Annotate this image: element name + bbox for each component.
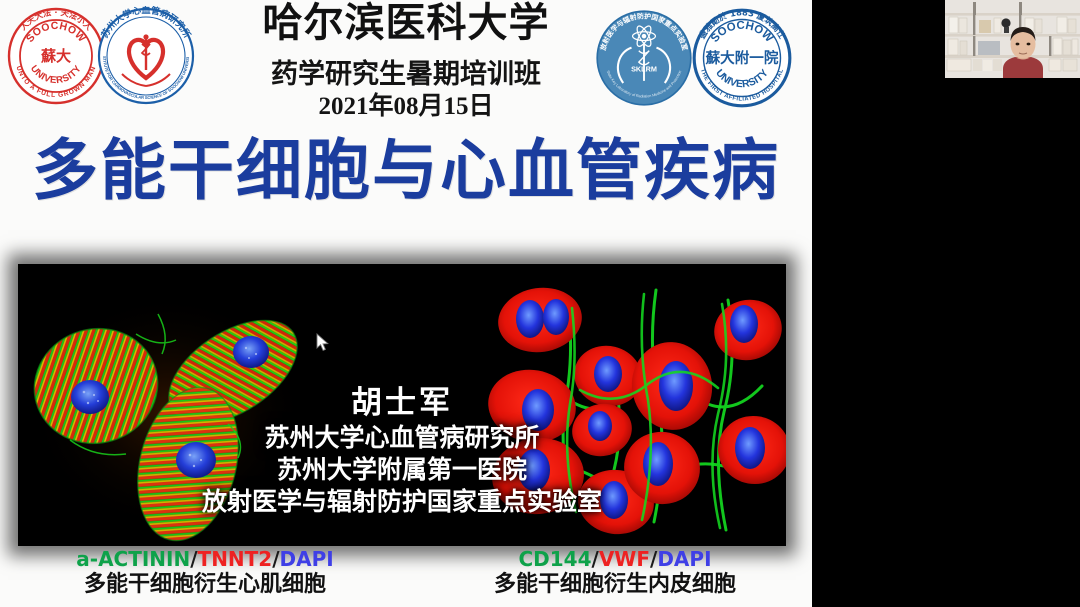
screen: 人天大法 · 天法小人 UNTO A FULL GROWN MAN SOOCHO…	[0, 0, 1080, 607]
left-caption-text: 多能干细胞衍生心肌细胞	[10, 572, 400, 598]
cardiomyocyte-image	[18, 264, 328, 546]
right-marker-list: CD144/VWF/DAPI	[430, 548, 800, 570]
sklrm-seal-logo: 放射医学与辐射防护国家重点实验室 State Key Laboratory of…	[592, 6, 696, 110]
cardiovascular-institute-seal-logo: 苏州大学心血管病研究所 INSTITUTE FOR CARDIOVASCULAR…	[96, 6, 196, 106]
microscopy-image-panel	[18, 264, 786, 546]
endothelial-cell-image	[476, 264, 786, 546]
svg-text:蘇大: 蘇大	[40, 47, 71, 65]
presentation-date: 2021年08月15日	[206, 86, 606, 122]
presentation-slide: 人天大法 · 天法小人 UNTO A FULL GROWN MAN SOOCHO…	[0, 0, 812, 607]
left-marker-list: a-ACTININ/TNNT2/DAPI	[10, 548, 400, 570]
university-title: 哈尔滨医科大学	[206, 2, 606, 45]
marker-label-cd144: CD144	[518, 547, 591, 571]
svg-text:蘇大附一院: 蘇大附一院	[705, 49, 779, 67]
marker-label-vwf: VWF	[599, 547, 650, 571]
right-caption-text: 多能干细胞衍生内皮细胞	[430, 572, 800, 598]
first-affiliated-hospital-seal-logo: 盛雅勛於 1883 厦筑高仕 THE FIRST AFFILIATED HOSP…	[690, 6, 794, 110]
marker-label-a-actinin: a-ACTININ	[76, 547, 190, 571]
svg-text:SKLRM: SKLRM	[631, 65, 657, 74]
marker-separator: /	[592, 547, 599, 571]
slide-main-title: 多能干细胞与心血管疾病	[0, 138, 812, 204]
marker-label-dapi: DAPI	[280, 547, 334, 571]
soochow-university-seal-logo: 人天大法 · 天法小人 UNTO A FULL GROWN MAN SOOCHO…	[6, 6, 106, 106]
presenter-video-thumbnail[interactable]	[945, 0, 1080, 78]
right-figure-caption: CD144/VWF/DAPI 多能干细胞衍生内皮细胞	[430, 548, 800, 599]
slide-header: 人天大法 · 天法小人 UNTO A FULL GROWN MAN SOOCHO…	[0, 0, 812, 118]
marker-label-dapi: DAPI	[657, 547, 711, 571]
marker-label-tnnt2: TNNT2	[198, 547, 273, 571]
left-figure-caption: a-ACTININ/TNNT2/DAPI 多能干细胞衍生心肌细胞	[10, 548, 400, 599]
marker-separator: /	[272, 547, 279, 571]
marker-separator: /	[190, 547, 197, 571]
